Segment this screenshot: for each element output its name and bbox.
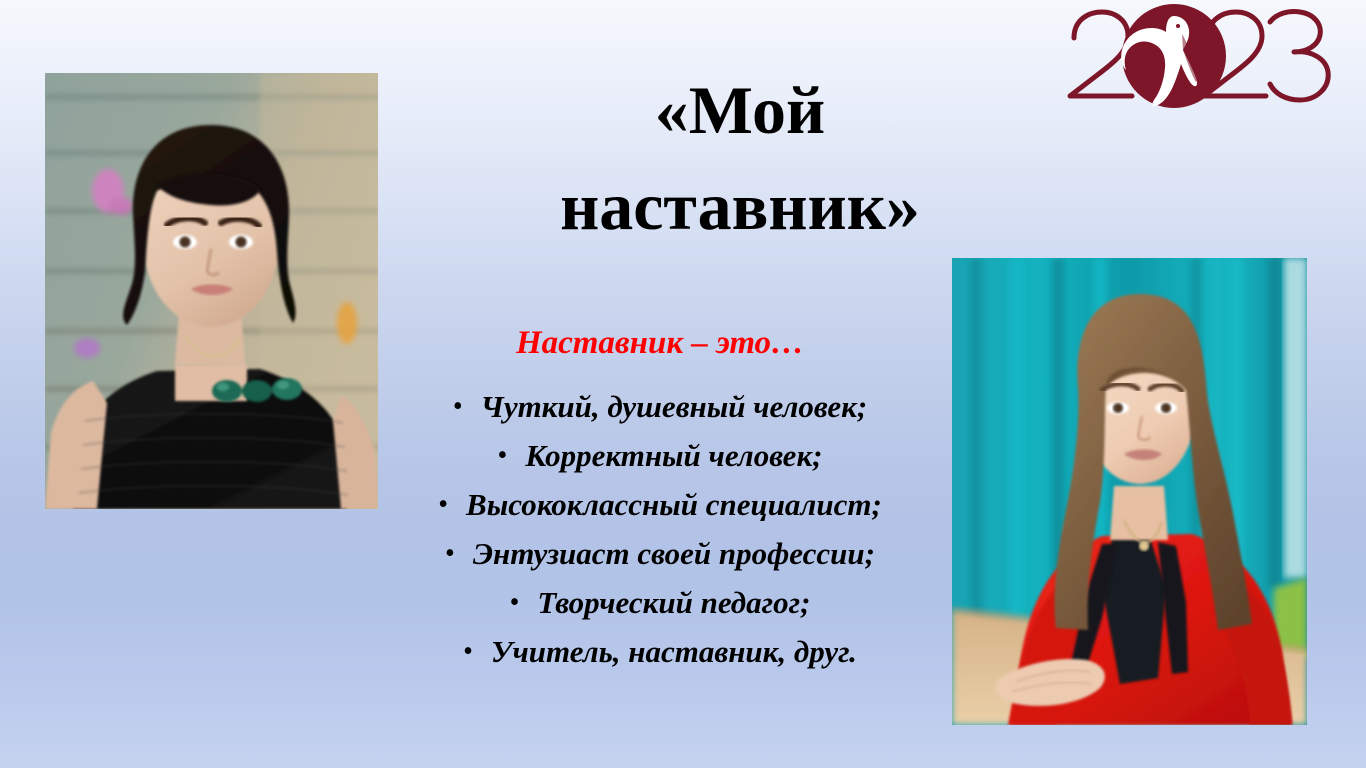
- list-item: •Творческий педагог;: [382, 578, 938, 627]
- list-item-label: Энтузиаст своей профессии;: [473, 536, 875, 571]
- photo-mentor-woman-dark-hair: [45, 73, 378, 509]
- page-title-line-2: наставник»: [420, 158, 1060, 254]
- page-title: «Мой наставник»: [420, 62, 1060, 254]
- logo-artwork: [1056, 4, 1342, 108]
- mentor-qualities-list: •Чуткий, душевный человек; •Корректный ч…: [382, 382, 938, 676]
- bullet-marker-icon: •: [498, 431, 508, 480]
- list-item-label: Учитель, наставник, друг.: [491, 634, 857, 669]
- list-item-label: Корректный человек;: [525, 438, 822, 473]
- slide-canvas: «Мой наставник» Наставник – это… •Чуткий…: [0, 0, 1366, 768]
- bullet-marker-icon: •: [510, 578, 520, 627]
- list-item: •Энтузиаст своей профессии;: [382, 529, 938, 578]
- list-item-label: Творческий педагог;: [537, 585, 810, 620]
- photo-right-artwork: [952, 258, 1307, 725]
- list-item: •Высококлассный специалист;: [382, 480, 938, 529]
- list-item: •Корректный человек;: [382, 431, 938, 480]
- subtitle-heading: Наставник – это…: [390, 323, 930, 363]
- bullet-marker-icon: •: [463, 627, 473, 676]
- photo-mentee-woman-red-cardigan: [952, 258, 1307, 725]
- bullet-marker-icon: •: [438, 480, 448, 529]
- bullet-marker-icon: •: [453, 382, 463, 431]
- list-item: •Чуткий, душевный человек;: [382, 382, 938, 431]
- logo-digit-3: [1270, 11, 1328, 100]
- pelican-2023-logo: [1056, 4, 1342, 108]
- list-item-label: Чуткий, душевный человек;: [481, 389, 868, 424]
- list-item-label: Высококлассный специалист;: [466, 487, 882, 522]
- list-item: •Учитель, наставник, друг.: [382, 627, 938, 676]
- bullet-marker-icon: •: [445, 529, 455, 578]
- photo-left-artwork: [45, 73, 378, 509]
- page-title-line-1: «Мой: [420, 62, 1060, 158]
